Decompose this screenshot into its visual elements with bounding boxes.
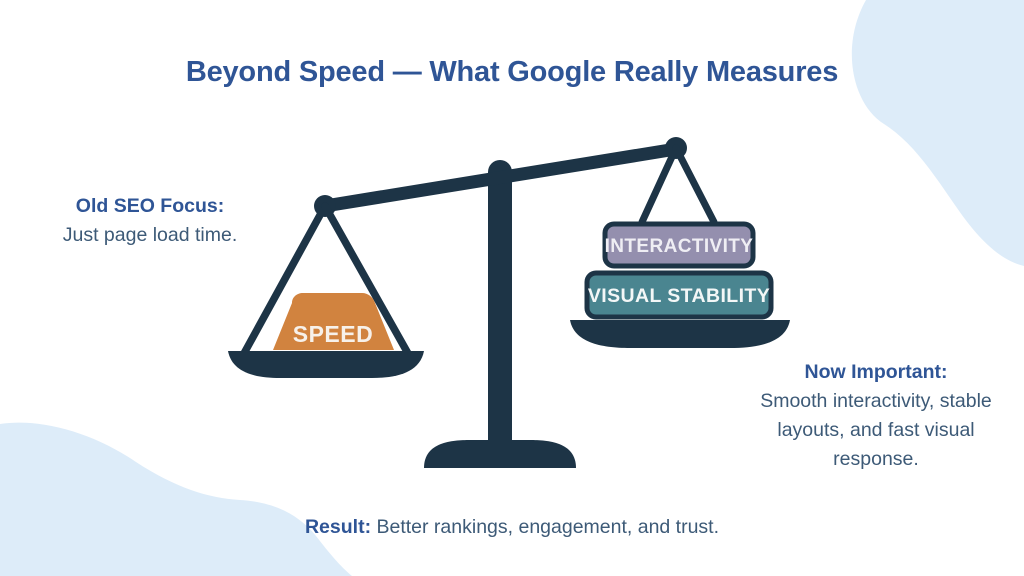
left-caption: Old SEO Focus: Just page load time. [40,192,260,250]
right-pan-dish [570,320,790,348]
left-caption-heading: Old SEO Focus: [40,192,260,221]
right-caption: Now Important: Smooth interactivity, sta… [748,358,1004,474]
result-body: Better rankings, engagement, and trust. [376,516,719,538]
right-caption-body: Smooth interactivity, stable layouts, an… [748,387,1004,474]
right-pan-string-b [676,148,714,222]
left-pan-dish [228,351,424,378]
block-interactivity-label: INTERACTIVITY [605,236,754,257]
infographic-canvas: Beyond Speed — What Google Really Measur… [0,0,1024,576]
left-caption-body: Just page load time. [40,221,260,250]
result-heading: Result: [305,516,371,538]
block-speed-label: SPEED [293,321,373,347]
result-line: Result: Better rankings, engagement, and… [0,516,1024,539]
right-caption-heading: Now Important: [748,358,1004,387]
page-title: Beyond Speed — What Google Really Measur… [0,56,1024,89]
block-visual-stability-label: VISUAL STABILITY [588,285,770,307]
scale-column [488,172,512,448]
